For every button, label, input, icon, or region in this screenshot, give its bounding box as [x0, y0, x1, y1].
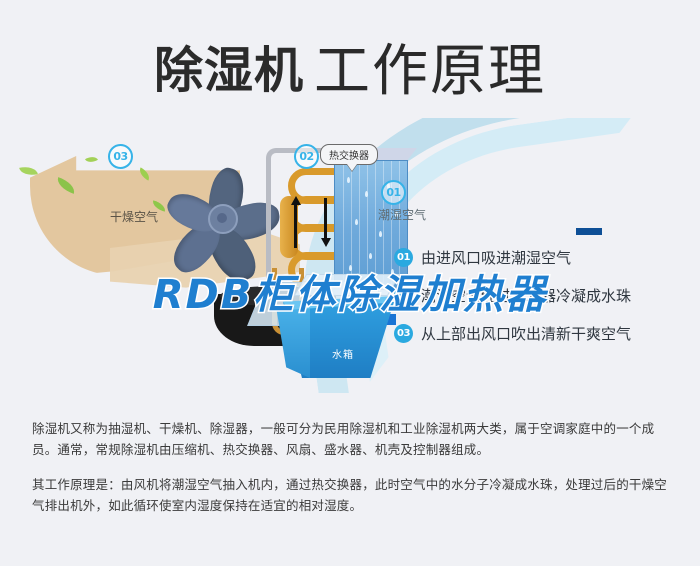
list-item: 03 从上部出风口吹出清新干爽空气: [394, 320, 694, 346]
flow-arrow-up-icon: [291, 196, 301, 205]
step-number: 03: [394, 324, 413, 343]
fan-hub: [208, 204, 238, 234]
infographic-page: 除湿机工作原理: [0, 0, 700, 566]
page-title: 除湿机工作原理: [0, 26, 700, 107]
internal-flow-arrow: [576, 228, 602, 235]
dry-air-label: 干燥空气: [110, 208, 158, 225]
watermark-text: RDB柜体除湿加热器: [0, 262, 700, 320]
water-tank-label: 水箱: [332, 346, 354, 361]
diagram-stage: 水箱 03 02 01 热交换器 干燥空气 潮湿空气 01 由进风口吸进潮湿空气…: [0, 118, 700, 393]
marker-01: 01: [381, 180, 406, 205]
paragraph-two: 其工作原理是：由风机将潮湿空气抽入机内，通过热交换器，此时空气中的水分子冷凝成水…: [32, 474, 672, 516]
humid-air-label: 潮湿空气: [378, 206, 426, 223]
paragraph-one: 除湿机又称为抽湿机、干燥机、除湿器，一般可分为民用除湿机和工业除湿机两大类，属于…: [32, 418, 672, 460]
flow-arrow-down-icon: [321, 238, 331, 247]
step-text: 从上部出风口吹出清新干爽空气: [421, 323, 631, 344]
flow-arrow-shaft: [294, 204, 297, 248]
leaf-icon: [85, 154, 98, 166]
title-part-one: 除湿机: [154, 42, 304, 99]
flow-arrow-shaft: [324, 198, 327, 240]
heat-exchanger-callout: 热交换器: [320, 144, 378, 165]
marker-03: 03: [108, 144, 133, 169]
title-part-two: 工作原理: [314, 39, 546, 104]
body-copy: 除湿机又称为抽湿机、干燥机、除湿器，一般可分为民用除湿机和工业除湿机两大类，属于…: [32, 418, 672, 530]
marker-02: 02: [294, 144, 319, 169]
